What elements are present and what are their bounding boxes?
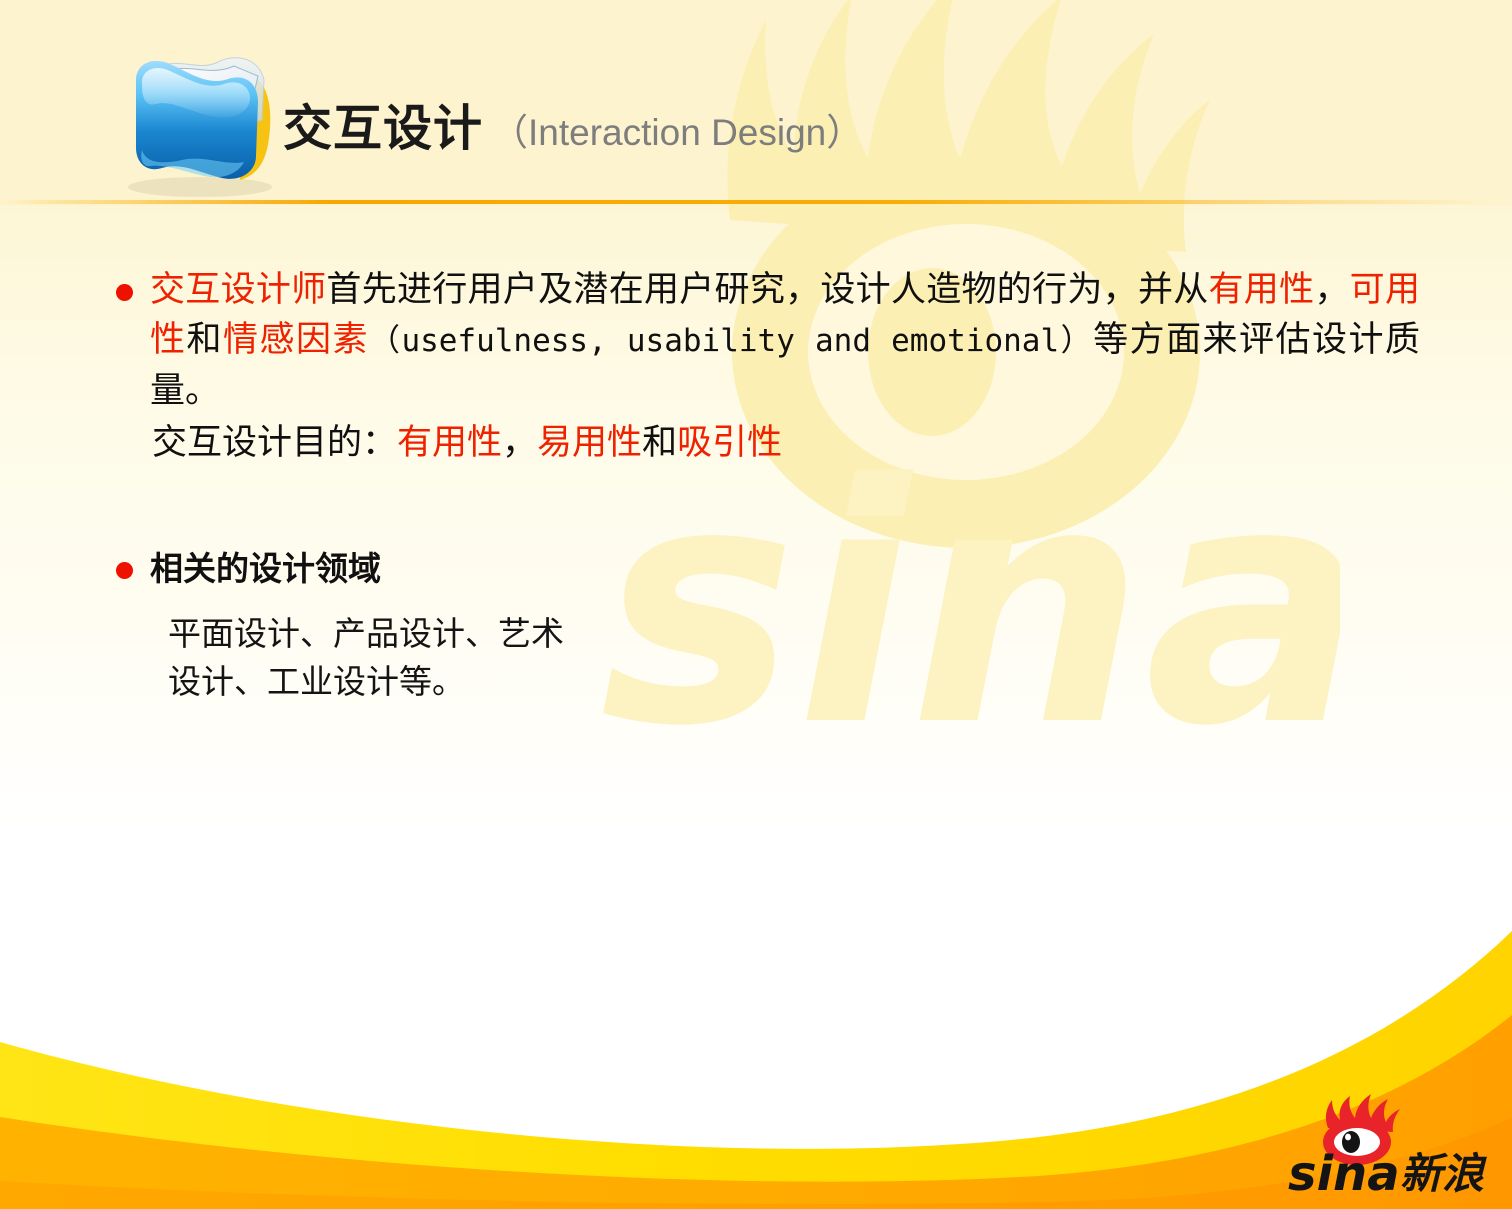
bullet-1-seg-1: 交互设计师: [150, 270, 326, 310]
sina-logo: sina 新浪: [1288, 1094, 1492, 1194]
header-divider: [0, 200, 1512, 204]
slide-header: text file 交互设计 （Interaction Design）: [0, 0, 1512, 205]
section-2-body-wrap: 平面设计、产品设计、艺术 设计、工业设计等。: [168, 610, 564, 706]
sina-wordmark-cn: 新浪: [1400, 1149, 1487, 1194]
purpose-prefix: 交互设计目的：: [152, 423, 397, 463]
blue-folder-text-file-icon: text file: [112, 46, 292, 201]
purpose-line: 交互设计目的：有用性，易用性和吸引性: [152, 418, 782, 468]
purpose-sep-1: ，: [502, 423, 537, 463]
bullet-1-seg-6: 和: [187, 320, 224, 360]
sina-wordmark-en: sina: [1288, 1146, 1400, 1194]
page-title-cn: 交互设计: [283, 104, 483, 153]
bullet-1-seg-8: （usefulness, usability and emotional）: [369, 323, 1093, 359]
bullet-1-text: 交互设计师首先进行用户及潜在用户研究，设计人造物的行为，并从有用性，可用性和情感…: [150, 265, 1420, 416]
purpose-item-1: 有用性: [397, 423, 502, 463]
bullet-item-2: 相关的设计领域: [116, 545, 381, 593]
page-title-en: （Interaction Design）: [491, 114, 863, 151]
purpose-sep-2: 和: [642, 423, 677, 463]
purpose-item-2: 易用性: [537, 423, 642, 463]
section-2-body: 平面设计、产品设计、艺术 设计、工业设计等。: [168, 610, 564, 706]
bullet-dot-icon: [116, 562, 133, 579]
bullet-1-seg-4: ，: [1314, 270, 1349, 310]
bullet-dot-icon: [116, 284, 133, 301]
page-title: 交互设计 （Interaction Design）: [283, 104, 863, 153]
purpose-item-3: 吸引性: [677, 423, 782, 463]
bullet-1-seg-7: 情感因素: [223, 320, 369, 360]
slide-body: 交互设计师首先进行用户及潜在用户研究，设计人造物的行为，并从有用性，可用性和情感…: [0, 205, 1512, 965]
bullet-1-seg-2: 首先进行用户及潜在用户研究，设计人造物的行为，并从: [326, 270, 1208, 310]
bullet-1-seg-3: 有用性: [1209, 270, 1315, 310]
section-2-heading: 相关的设计领域: [150, 545, 381, 593]
purpose-line-text: 交互设计目的：有用性，易用性和吸引性: [152, 418, 782, 468]
bullet-item-1: 交互设计师首先进行用户及潜在用户研究，设计人造物的行为，并从有用性，可用性和情感…: [116, 265, 1420, 416]
slide: sina: [0, 0, 1512, 1209]
